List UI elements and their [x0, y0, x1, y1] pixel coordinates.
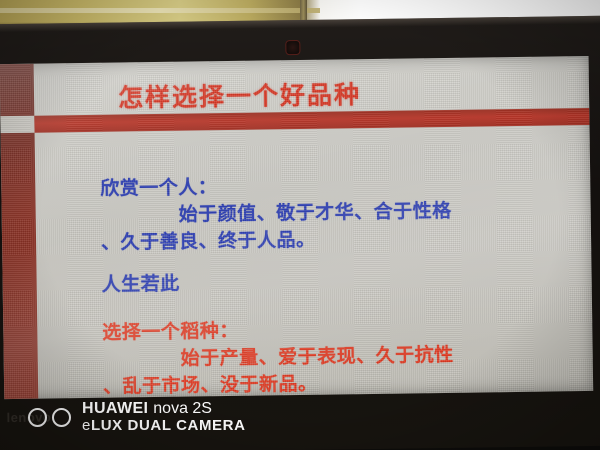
slide-block-blue-heading: 欣赏一个人： 始于颜值、敬于才华、合于性格 、久于善良、终于人品。: [100, 171, 452, 257]
slide-title: 怎样选择一个好品种: [118, 75, 361, 114]
watermark-text: HUAWEI nova 2S eLUX DUAL CAMERA: [82, 400, 246, 434]
watermark-model: nova 2S: [153, 400, 212, 417]
slide-block-red-heading: 选择一个稻种： 始于产量、爱于表现、久于抗性 、乱于市场、没于新品。: [102, 315, 454, 399]
presentation-slide: 怎样选择一个好品种 欣赏一个人： 始于颜值、敬于才华、合于性格 、久于善良、终于…: [0, 56, 593, 399]
slide-line: 人生若此: [101, 271, 179, 299]
slide-left-accent-band: [0, 64, 38, 399]
watermark-feature-prefix: e: [82, 417, 91, 434]
slide-line: 、乱于市场、没于新品。: [103, 369, 454, 399]
slide-accent-gap: [0, 116, 34, 133]
slide-line: 、久于善良、终于人品。: [101, 225, 452, 257]
camera-watermark: HUAWEI nova 2S eLUX DUAL CAMERA: [28, 400, 246, 434]
watermark-brand: HUAWEI: [82, 400, 148, 417]
slide-body: 欣赏一个人： 始于颜值、敬于才华、合于性格 、久于善良、终于人品。 人生若此 选…: [35, 125, 594, 399]
watermark-brand-line: HUAWEI nova 2S: [82, 400, 246, 417]
dual-camera-icon: [28, 408, 71, 427]
slide-line: 始于颜值、敬于才华、合于性格: [101, 198, 452, 230]
watermark-feature-rest: LUX DUAL CAMERA: [91, 417, 246, 434]
photograph-of-monitor: lenovo 怎样选择一个好品种 欣赏一个人： 始于颜值、敬于才华、合于性格 、…: [0, 0, 600, 450]
slide-line: 始于产量、爱于表现、久于抗性: [103, 342, 454, 374]
slide-block-blue-closing: 人生若此: [101, 271, 179, 299]
camera-sensor-icon: [285, 40, 300, 55]
watermark-feature-line: eLUX DUAL CAMERA: [82, 418, 246, 434]
camera-lens-icon: [28, 408, 47, 427]
monitor-body: lenovo 怎样选择一个好品种 欣赏一个人： 始于颜值、敬于才华、合于性格 、…: [0, 16, 600, 450]
camera-lens-icon: [52, 408, 71, 427]
window-frame-horizontal: [0, 8, 320, 13]
